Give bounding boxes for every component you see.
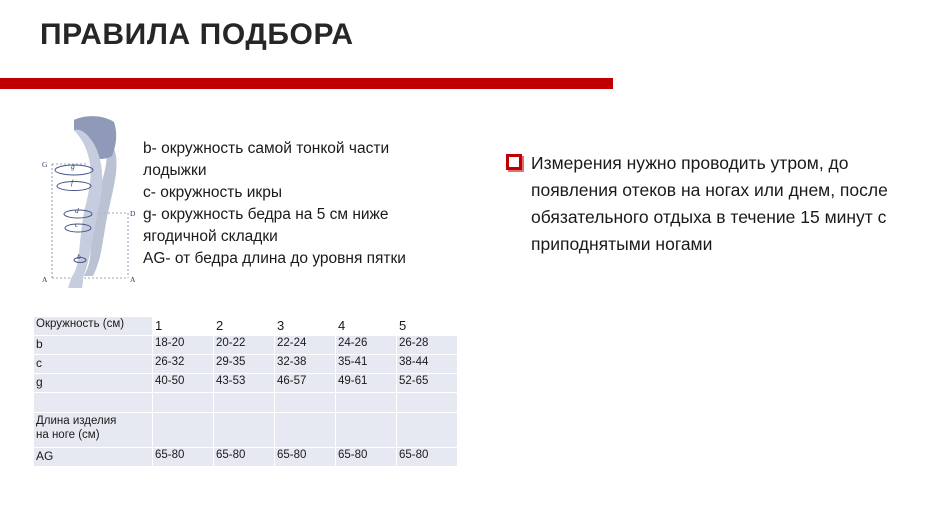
section-label-line2: на ноге (см) [36, 429, 100, 441]
section-label-line1: Длина изделия [36, 415, 116, 427]
foot [68, 278, 83, 288]
legend-line-g: g- окружность бедра на 5 см ниже ягодичн… [143, 204, 443, 248]
cell-c-4: 35-41 [336, 355, 397, 374]
table-header-size-5: 5 [397, 317, 458, 336]
table-row: AG 65-80 65-80 65-80 65-80 65-80 [34, 448, 458, 467]
cell-c-3: 32-38 [275, 355, 336, 374]
cell-b-5: 26-28 [397, 336, 458, 355]
row-label-b: b [34, 336, 153, 355]
svg-text:G: G [42, 160, 48, 169]
svg-text:A: A [130, 275, 136, 284]
spacer-label [34, 393, 153, 413]
spacer-cell-2 [214, 393, 275, 413]
section-cell-5 [397, 413, 458, 448]
measurement-legend: b- окружность самой тонкой части лодыжки… [143, 138, 443, 270]
cell-c-5: 38-44 [397, 355, 458, 374]
table-section-row: Длина изделия на ноге (см) [34, 413, 458, 448]
legend-line-b: b- окружность самой тонкой части лодыжки [143, 138, 443, 182]
cell-b-2: 20-22 [214, 336, 275, 355]
cell-g-4: 49-61 [336, 374, 397, 393]
section-cell-1 [153, 413, 214, 448]
table-header-size-2: 2 [214, 317, 275, 336]
ring-labels: g f d c b [71, 162, 81, 261]
table-row: b 18-20 20-22 22-24 24-26 26-28 [34, 336, 458, 355]
table-header-size-1: 1 [153, 317, 214, 336]
table-header-size-3: 3 [275, 317, 336, 336]
cell-b-4: 24-26 [336, 336, 397, 355]
svg-text:b: b [77, 252, 81, 261]
cell-ag-5: 65-80 [397, 448, 458, 467]
svg-text:A: A [42, 275, 48, 284]
table-header-label: Окружность (см) [34, 317, 153, 336]
cell-ag-1: 65-80 [153, 448, 214, 467]
cell-ag-2: 65-80 [214, 448, 275, 467]
sizing-table: Окружность (см) 1 2 3 4 5 b 18-20 20-22 … [33, 316, 458, 467]
svg-text:f: f [71, 178, 74, 187]
spacer-cell-5 [397, 393, 458, 413]
legend-line-c: c- окружность икры [143, 182, 443, 204]
spacer-cell-4 [336, 393, 397, 413]
table-header-row: Окружность (см) 1 2 3 4 5 [34, 317, 458, 336]
cell-b-3: 22-24 [275, 336, 336, 355]
table-spacer-row [34, 393, 458, 413]
cell-b-1: 18-20 [153, 336, 214, 355]
table-row: c 26-32 29-35 32-38 35-41 38-44 [34, 355, 458, 374]
section-label: Длина изделия на ноге (см) [34, 413, 153, 448]
row-label-ag: AG [34, 448, 153, 467]
svg-text:D: D [130, 209, 136, 218]
square-bullet-icon [506, 154, 522, 170]
row-label-g: g [34, 374, 153, 393]
spacer-cell-3 [275, 393, 336, 413]
svg-text:d: d [75, 206, 79, 215]
table-header-size-4: 4 [336, 317, 397, 336]
page-title: ПРАВИЛА ПОДБОРА [40, 18, 354, 52]
svg-text:g: g [71, 162, 75, 171]
spacer-cell-1 [153, 393, 214, 413]
leg-measurement-diagram: g f d c b G D A A [40, 112, 146, 292]
cell-c-1: 26-32 [153, 355, 214, 374]
section-cell-3 [275, 413, 336, 448]
cell-g-3: 46-57 [275, 374, 336, 393]
section-cell-2 [214, 413, 275, 448]
cell-g-2: 43-53 [214, 374, 275, 393]
section-cell-4 [336, 413, 397, 448]
cell-ag-3: 65-80 [275, 448, 336, 467]
cell-c-2: 29-35 [214, 355, 275, 374]
row-label-c: c [34, 355, 153, 374]
measurement-advice-note: Измерения нужно проводить утром, до появ… [506, 150, 906, 258]
cell-ag-4: 65-80 [336, 448, 397, 467]
cell-g-1: 40-50 [153, 374, 214, 393]
legend-line-ag: AG- от бедра длина до уровня пятки [143, 248, 443, 270]
table-row: g 40-50 43-53 46-57 49-61 52-65 [34, 374, 458, 393]
note-text: Измерения нужно проводить утром, до появ… [531, 150, 906, 258]
cell-g-5: 52-65 [397, 374, 458, 393]
title-underline-bar [0, 78, 613, 89]
